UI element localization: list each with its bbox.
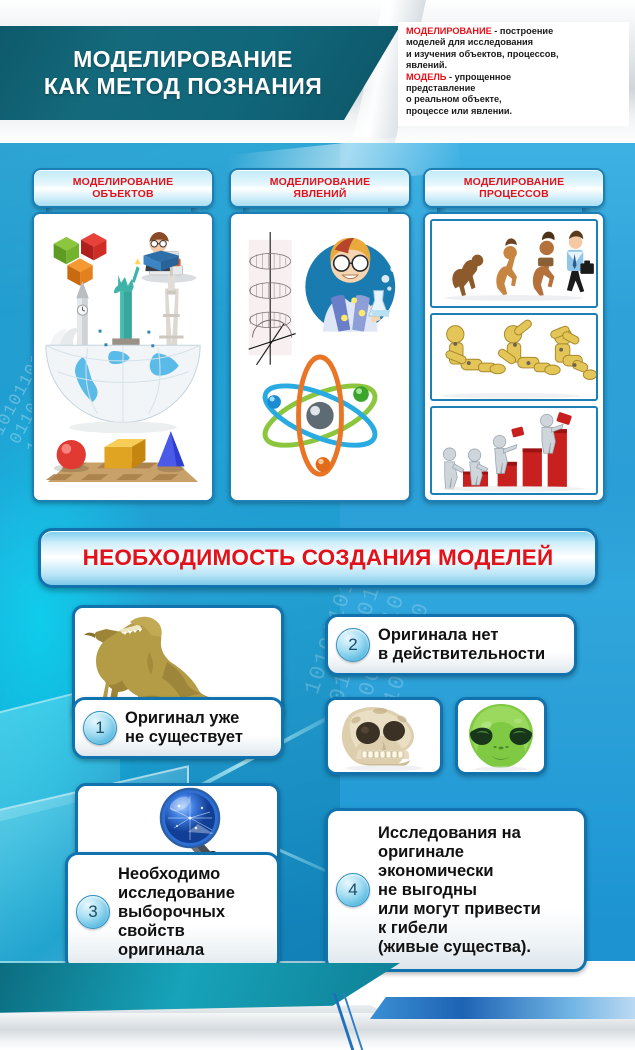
definition-line-8: процессе или явлении. (406, 106, 623, 117)
reason-number-2: 2 (336, 628, 370, 662)
definition-line-4: явлений. (406, 60, 623, 71)
page-title: МОДЕЛИРОВАНИЕ КАК МЕТОД ПОЗНАНИЯ (44, 46, 356, 100)
reason-number-1: 1 (83, 711, 117, 745)
definition-text-1: - построение (492, 26, 553, 36)
reason-number-3: 3 (76, 895, 110, 929)
banner-title: НЕОБХОДИМОСТЬ СОЗДАНИЯ МОДЕЛЕЙ (83, 545, 554, 571)
subpanel-bar-chart (430, 406, 598, 495)
crash-test-dummy-icon (432, 315, 596, 400)
necessity-banner: НЕОБХОДИМОСТЬ СОЗДАНИЯ МОДЕЛЕЙ (38, 528, 598, 588)
reason-text-1: Оригинал уже не существует (125, 709, 243, 747)
modeling-cards-row: МОДЕЛИРОВАНИЕ ОБЪЕКТОВ (0, 168, 635, 506)
card-modeling-processes: МОДЕЛИРОВАНИЕ ПРОЦЕССОВ (423, 168, 605, 498)
subpanel-crash-test (430, 313, 598, 402)
card-header-processes: МОДЕЛИРОВАНИЕ ПРОЦЕССОВ (423, 168, 605, 208)
reason-item-1: 1 Оригинал уже не существует (72, 697, 284, 759)
definition-line-7: о реальном объекте, (406, 94, 623, 105)
card-title-objects: МОДЕЛИРОВАНИЕ ОБЪЕКТОВ (73, 176, 174, 200)
card-body-objects (32, 212, 214, 502)
reason-number-4: 4 (336, 873, 370, 907)
helix-graph-icon (249, 232, 296, 365)
image-card-alien (455, 697, 547, 775)
definition-text-5: - упрощенное (446, 72, 511, 82)
colored-cubes-icon (54, 233, 107, 286)
reason-item-3: 3 Необходимо исследование выборочных сво… (65, 852, 280, 972)
human-evolution-icon (432, 221, 596, 306)
magnifying-glass-icon (78, 786, 277, 862)
card-title-processes: МОДЕЛИРОВАНИЕ ПРОЦЕССОВ (464, 176, 565, 200)
card-title-phenomena: МОДЕЛИРОВАНИЕ ЯВЛЕНИЙ (270, 176, 371, 200)
reason-item-4: 4 Исследования на оригинале экономически… (325, 808, 587, 972)
definition-line-6: представление (406, 83, 623, 94)
image-card-skull (325, 697, 443, 775)
reason-item-2: 2 Оригинала нет в действительности (325, 614, 577, 676)
poster-footer (0, 963, 635, 1050)
card-modeling-phenomena: МОДЕЛИРОВАНИЕ ЯВЛЕНИЙ (229, 168, 411, 498)
footer-diagonal-line-2 (343, 993, 482, 1050)
alien-head-icon (458, 700, 544, 772)
scientist-flask-icon (305, 238, 396, 332)
poster-header: МОДЕЛИРОВАНИЕ КАК МЕТОД ПОЗНАНИЯ МОДЕЛИР… (0, 0, 635, 143)
reason-text-3: Необходимо исследование выборочных свойс… (118, 865, 235, 960)
card-modeling-objects: МОДЕЛИРОВАНИЕ ОБЪЕКТОВ (32, 168, 214, 498)
objects-illustration (40, 220, 206, 494)
definition-line-2: моделей для исследования (406, 37, 623, 48)
definition-line-5: МОДЕЛЬ - упрощенное (406, 72, 623, 83)
definition-line-1: МОДЕЛИРОВАНИЕ - построение (406, 26, 623, 37)
definition-box: МОДЕЛИРОВАНИЕ - построение моделей для и… (398, 22, 629, 126)
atom-model-icon (258, 357, 383, 474)
term-modeling: МОДЕЛИРОВАНИЕ (406, 26, 492, 36)
bar-chart-figures-icon (432, 408, 596, 493)
card-header-objects: МОДЕЛИРОВАНИЕ ОБЪЕКТОВ (32, 168, 214, 208)
card-body-processes (423, 212, 605, 502)
reason-text-4: Исследования на оригинале экономически н… (378, 824, 541, 957)
reason-text-2: Оригинала нет в действительности (378, 626, 545, 664)
card-header-phenomena: МОДЕЛИРОВАНИЕ ЯВЛЕНИЙ (229, 168, 411, 208)
globe-landmarks-icon (46, 258, 200, 433)
geometric-solids-icon (46, 431, 198, 482)
card-body-phenomena (229, 212, 411, 502)
term-model: МОДЕЛЬ (406, 72, 446, 82)
definition-line-3: и изучения объектов, процессов, (406, 49, 623, 60)
title-banner: МОДЕЛИРОВАНИЕ КАК МЕТОД ПОЗНАНИЯ (0, 26, 400, 120)
phenomena-illustration (237, 220, 403, 494)
skull-icon (328, 700, 440, 772)
poster-root: 1010110100101 0110101011010 100101101001… (0, 0, 635, 1050)
subpanel-evolution (430, 219, 598, 308)
